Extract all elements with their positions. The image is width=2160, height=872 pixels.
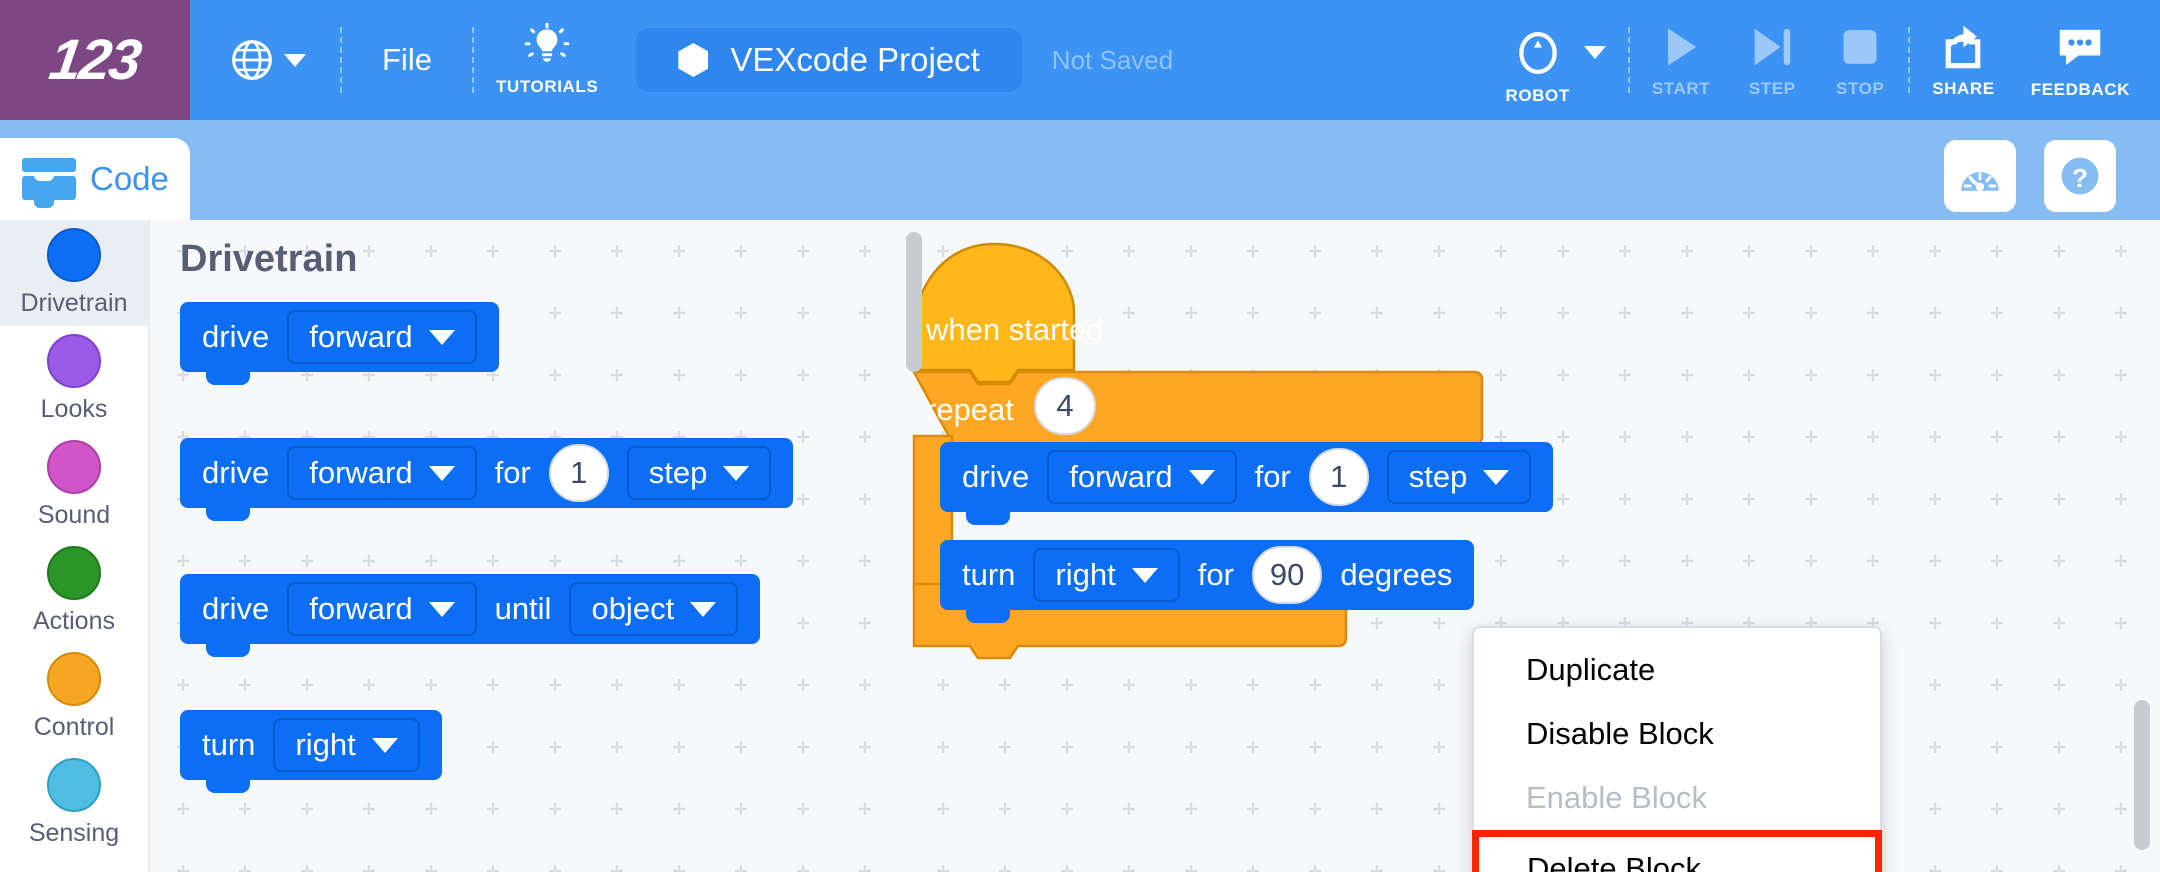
block-label-turn: turn xyxy=(202,727,255,763)
block-tab xyxy=(206,508,250,521)
dropdown-unit[interactable]: step xyxy=(1387,450,1532,504)
step-forward-icon xyxy=(1746,21,1798,73)
drivetrain-color-dot xyxy=(47,228,101,282)
share-label: SHARE xyxy=(1932,79,1995,99)
palette-scrollbar[interactable] xyxy=(906,232,922,372)
number-input-degrees[interactable]: 90 xyxy=(1252,546,1322,604)
share-button[interactable]: SHARE xyxy=(1914,0,2013,120)
dropdown-target[interactable]: object xyxy=(569,582,738,636)
toolbar-divider xyxy=(340,27,342,93)
block-context-menu: Duplicate Disable Block Enable Block Del… xyxy=(1472,626,1882,872)
block-tab xyxy=(206,780,250,793)
workspace-block-drive[interactable]: drive forward for 1 step xyxy=(940,442,1553,512)
project-name-field[interactable]: VEXcode Project xyxy=(636,28,1021,92)
context-menu-item-duplicate[interactable]: Duplicate xyxy=(1474,638,1880,702)
dropdown-unit[interactable]: step xyxy=(627,446,772,500)
canvas-scrollbar[interactable] xyxy=(2134,700,2150,850)
dropdown-value: step xyxy=(1409,459,1468,495)
stop-label: STOP xyxy=(1836,79,1884,99)
start-button[interactable]: START xyxy=(1634,0,1728,120)
dropdown-direction[interactable]: forward xyxy=(287,446,476,500)
lightbulb-icon xyxy=(523,23,571,71)
sidebar-item-sound[interactable]: Sound xyxy=(0,432,148,538)
dropdown-value: right xyxy=(295,727,355,763)
dropdown-direction[interactable]: forward xyxy=(287,310,476,364)
palette-title: Drivetrain xyxy=(180,238,357,281)
block-label-drive: drive xyxy=(202,455,269,491)
code-tab-label: Code xyxy=(90,160,169,198)
start-label: START xyxy=(1652,79,1710,99)
tutorials-button[interactable]: TUTORIALS xyxy=(478,0,616,120)
repeat-block-label: repeat xyxy=(926,392,1014,427)
feedback-button[interactable]: FEEDBACK xyxy=(2013,0,2160,120)
question-mark-icon: ? xyxy=(2056,152,2104,200)
block-tab xyxy=(966,610,1010,623)
subheader-actions: ? xyxy=(1944,140,2116,212)
block-label-turn: turn xyxy=(962,557,1015,593)
block-label-for: for xyxy=(1255,459,1291,495)
sidebar-item-drivetrain[interactable]: Drivetrain xyxy=(0,220,148,326)
repeat-count-input[interactable]: 4 xyxy=(1034,377,1096,435)
number-input-distance[interactable]: 1 xyxy=(549,444,609,502)
file-menu-button[interactable]: File xyxy=(346,42,468,78)
toolbar-divider xyxy=(1908,27,1910,93)
sidebar-label-sensing: Sensing xyxy=(29,819,119,848)
robot-icon xyxy=(1511,26,1565,80)
block-tab xyxy=(206,372,250,385)
control-color-dot xyxy=(47,652,101,706)
dropdown-turn-direction[interactable]: right xyxy=(273,718,419,772)
step-button[interactable]: STEP xyxy=(1728,0,1816,120)
language-selector[interactable] xyxy=(190,0,336,120)
speech-bubble-icon xyxy=(2053,20,2107,74)
stop-button[interactable]: STOP xyxy=(1816,0,1904,120)
toolbar-divider xyxy=(1628,27,1630,93)
dropdown-value: step xyxy=(649,455,708,491)
sidebar-label-drivetrain: Drivetrain xyxy=(21,289,128,318)
chevron-down-icon xyxy=(429,466,455,481)
sensing-color-dot xyxy=(47,758,101,812)
robot-button[interactable]: ROBOT xyxy=(1487,0,1623,120)
sub-header-bar xyxy=(0,120,2160,220)
block-tab xyxy=(206,644,250,657)
context-menu-item-disable-block[interactable]: Disable Block xyxy=(1474,702,1880,766)
hexagon-icon xyxy=(678,43,708,77)
save-status-label: Not Saved xyxy=(1052,45,1173,76)
block-label-drive: drive xyxy=(962,459,1029,495)
sidebar-label-actions: Actions xyxy=(33,607,115,636)
dropdown-value: forward xyxy=(309,319,412,355)
block-label-for: for xyxy=(1198,557,1234,593)
chevron-down-icon xyxy=(429,602,455,617)
tutorials-label: TUTORIALS xyxy=(496,77,598,97)
feedback-label: FEEDBACK xyxy=(2031,80,2130,100)
chevron-down-icon xyxy=(372,738,398,753)
chevron-down-icon xyxy=(723,466,749,481)
sidebar-label-looks: Looks xyxy=(41,395,108,424)
number-input-distance[interactable]: 1 xyxy=(1309,448,1369,506)
play-icon xyxy=(1655,21,1707,73)
palette-block-drive-until-object[interactable]: drive forward until object xyxy=(180,574,760,644)
dropdown-direction[interactable]: forward xyxy=(287,582,476,636)
vexcode-app: 123 File xyxy=(0,0,2160,872)
chevron-down-icon xyxy=(284,54,306,67)
sidebar-label-sound: Sound xyxy=(38,501,110,530)
top-toolbar: 123 File xyxy=(0,0,2160,120)
dashboard-button[interactable] xyxy=(1944,140,2016,212)
stop-square-icon xyxy=(1834,21,1886,73)
looks-color-dot xyxy=(47,334,101,388)
sound-color-dot xyxy=(47,440,101,494)
sidebar-item-control[interactable]: Control xyxy=(0,644,148,750)
step-label: STEP xyxy=(1749,79,1796,99)
dropdown-turn-direction[interactable]: right xyxy=(1033,548,1179,602)
workspace-block-turn[interactable]: turn right for 90 degrees xyxy=(940,540,1474,610)
chevron-down-icon xyxy=(1584,46,1606,59)
chevron-down-icon xyxy=(1132,568,1158,583)
logo-text: 123 xyxy=(46,27,144,93)
dropdown-value: forward xyxy=(1069,459,1172,495)
dropdown-value: forward xyxy=(309,591,412,627)
sidebar-label-control: Control xyxy=(34,713,115,742)
sidebar-item-looks[interactable]: Looks xyxy=(0,326,148,432)
help-button[interactable]: ? xyxy=(2044,140,2116,212)
actions-color-dot xyxy=(47,546,101,600)
chevron-down-icon xyxy=(690,602,716,617)
chevron-down-icon xyxy=(1483,470,1509,485)
sidebar-item-actions[interactable]: Actions xyxy=(0,538,148,644)
block-label-degrees: degrees xyxy=(1340,557,1452,593)
dropdown-direction[interactable]: forward xyxy=(1047,450,1236,504)
block-label-drive: drive xyxy=(202,319,269,355)
toolbar-divider xyxy=(472,27,474,93)
palette-block-drive-forward[interactable]: drive forward xyxy=(180,302,499,372)
dropdown-value: forward xyxy=(309,455,412,491)
block-palette: Drivetrain drive forward drive forward f… xyxy=(152,220,912,872)
block-label-until: until xyxy=(495,591,552,627)
context-menu-item-enable-block: Enable Block xyxy=(1474,766,1880,830)
context-menu-item-delete-block[interactable]: Delete Block xyxy=(1472,830,1882,872)
palette-block-drive-for-step[interactable]: drive forward for 1 step xyxy=(180,438,793,508)
palette-block-turn-right[interactable]: turn right xyxy=(180,710,442,780)
project-name-text: VEXcode Project xyxy=(730,41,979,79)
block-label-drive: drive xyxy=(202,591,269,627)
tab-code[interactable]: Code xyxy=(0,138,190,220)
block-tab xyxy=(966,512,1010,525)
share-export-icon xyxy=(1937,21,1989,73)
code-blocks-icon xyxy=(22,158,76,200)
dropdown-value: right xyxy=(1055,557,1115,593)
globe-icon xyxy=(230,38,274,82)
sidebar-item-sensing[interactable]: Sensing xyxy=(0,750,148,856)
chevron-down-icon xyxy=(1189,470,1215,485)
chevron-down-icon xyxy=(429,330,455,345)
gauge-icon xyxy=(1956,152,2004,200)
robot-label: ROBOT xyxy=(1505,86,1569,106)
dropdown-value: object xyxy=(591,591,674,627)
svg-text:?: ? xyxy=(2072,163,2088,193)
category-sidebar: Drivetrain Looks Sound Actions Control S… xyxy=(0,220,150,872)
block-label-for: for xyxy=(495,455,531,491)
vex-123-logo: 123 xyxy=(0,0,190,120)
